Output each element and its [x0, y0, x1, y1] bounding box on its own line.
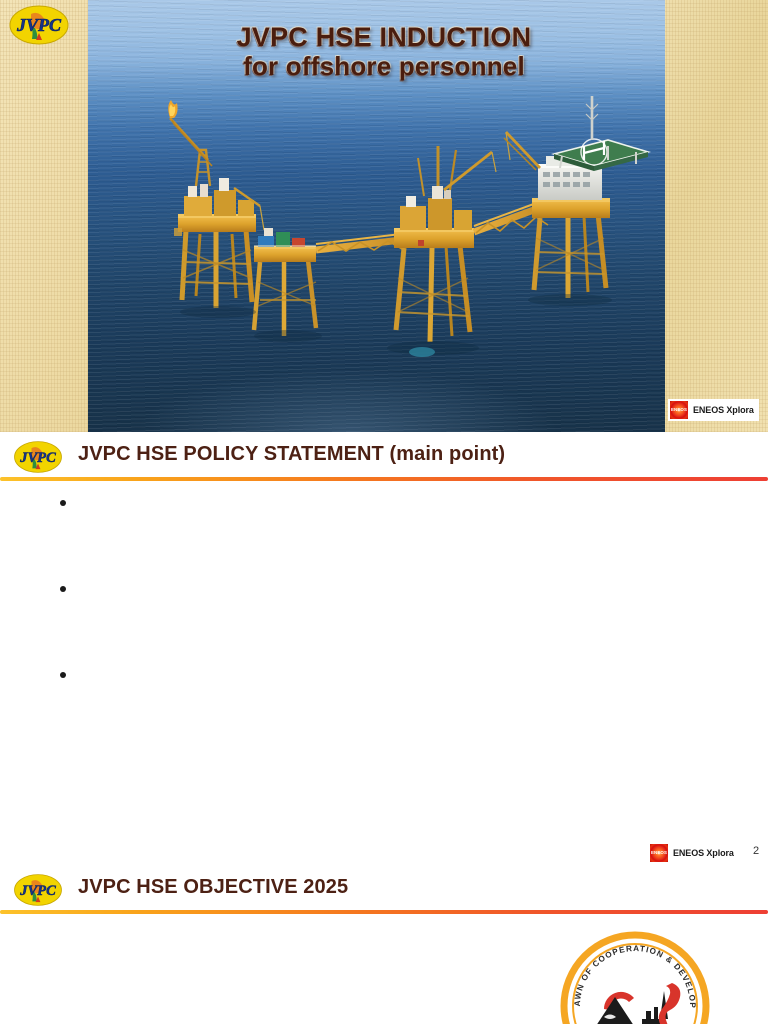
- slide2-heading: JVPC HSE POLICY STATEMENT (main point): [78, 443, 505, 466]
- slide3-heading: JVPC HSE OBJECTIVE 2025: [78, 876, 348, 899]
- svg-text:JVPC: JVPC: [16, 15, 62, 35]
- platform-wellhead: [254, 228, 316, 336]
- jvpc-logo: JVPC: [10, 440, 66, 474]
- eneos-logo-slide2: ENEOS ENEOS Xplora: [648, 842, 739, 864]
- slide1-title-block: JVPC HSE INDUCTION for offshore personne…: [0, 22, 768, 81]
- list-item: [0, 572, 768, 658]
- svg-text:JVPC: JVPC: [19, 883, 56, 899]
- presentation-page: JVPC HSE INDUCTION for offshore personne…: [0, 0, 768, 1024]
- eneos-mark-icon: ENEOS: [670, 401, 688, 419]
- jvpc-logo: JVPC: [10, 873, 66, 907]
- list-item: [0, 658, 768, 744]
- slide3-divider: [0, 910, 768, 914]
- slide1-title-line2: for offshore personnel: [0, 52, 768, 81]
- slide2-divider: [0, 477, 768, 481]
- slide1-title-line1: JVPC HSE INDUCTION: [0, 22, 768, 52]
- slide2-header: JVPC JVPC HSE POLICY STATEMENT (main poi…: [0, 432, 768, 480]
- list-item: [0, 486, 768, 572]
- eneos-mark-icon: ENEOS: [650, 844, 668, 862]
- slide3-header: JVPC JVPC HSE OBJECTIVE 2025: [0, 865, 768, 913]
- platform-center: [394, 146, 496, 342]
- svg-text:JVPC: JVPC: [19, 450, 56, 466]
- jvpc-logo: JVPC: [9, 4, 69, 46]
- bullet-icon: [60, 500, 66, 506]
- slide-title: JVPC HSE INDUCTION for offshore personne…: [0, 0, 768, 432]
- slide-policy-statement: JVPC JVPC HSE POLICY STATEMENT (main poi…: [0, 432, 768, 865]
- bullet-icon: [60, 672, 66, 678]
- dawn-of-cooperation-emblem: THE DAWN OF COOPERATION & DEVELOPMENT AN…: [560, 931, 710, 1024]
- supply-boat: [409, 347, 435, 357]
- eneos-mark-text: ENEOS: [651, 851, 667, 855]
- platform-left: [168, 100, 264, 308]
- platform-right-quarters: [504, 96, 648, 298]
- eneos-wordmark: ENEOS Xplora: [693, 405, 754, 415]
- bullet-icon: [60, 586, 66, 592]
- eneos-logo-slide1: ENEOS ENEOS Xplora: [668, 399, 759, 421]
- page-number: 2: [753, 845, 759, 857]
- slide2-bullet-list: [0, 486, 768, 744]
- eneos-mark-text: ENEOS: [671, 408, 687, 412]
- eneos-wordmark: ENEOS Xplora: [673, 848, 734, 858]
